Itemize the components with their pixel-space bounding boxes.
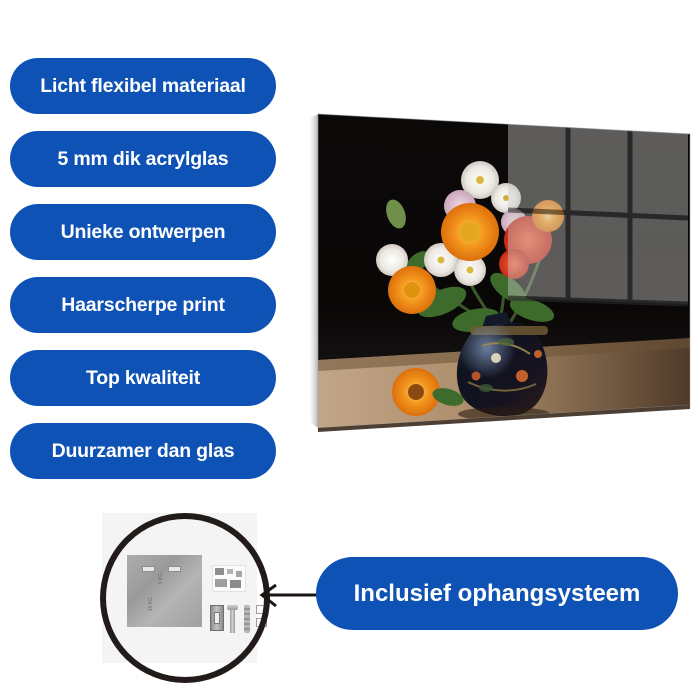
feature-pill-top-kwaliteit[interactable]: Top kwaliteit [10, 350, 276, 406]
artwork-illustration [300, 92, 696, 440]
hanging-kit-circle-outline [100, 513, 270, 683]
feature-pill-label: Top kwaliteit [86, 367, 200, 390]
feature-pill-label: Haarscherpe print [61, 294, 225, 317]
feature-pill-label: Unieke ontwerpen [61, 221, 226, 244]
feature-pill-label: Duurzamer dan glas [52, 440, 235, 463]
callout-arrow [250, 578, 326, 612]
acrylic-art-panel [300, 92, 696, 440]
feature-pill-licht-flexibel-materiaal[interactable]: Licht flexibel materiaal [10, 58, 276, 114]
feature-pill-unieke-ontwerpen[interactable]: Unieke ontwerpen [10, 204, 276, 260]
callout-pill-inclusief-ophangsysteem[interactable]: Inclusief ophangsysteem [316, 557, 678, 630]
feature-pill-5-mm-dik-acrylglas[interactable]: 5 mm dik acrylglas [10, 131, 276, 187]
product-feature-mockup: Licht flexibel materiaal 5 mm dik acrylg… [0, 0, 700, 700]
feature-pill-label: Licht flexibel materiaal [40, 75, 245, 98]
callout-pill-label: Inclusief ophangsysteem [354, 580, 641, 608]
window-reflection-overlay [508, 118, 688, 304]
feature-pill-haarscherpe-print[interactable]: Haarscherpe print [10, 277, 276, 333]
feature-pill-duurzamer-dan-glas[interactable]: Duurzamer dan glas [10, 423, 276, 479]
feature-pill-label: 5 mm dik acrylglas [58, 148, 229, 171]
